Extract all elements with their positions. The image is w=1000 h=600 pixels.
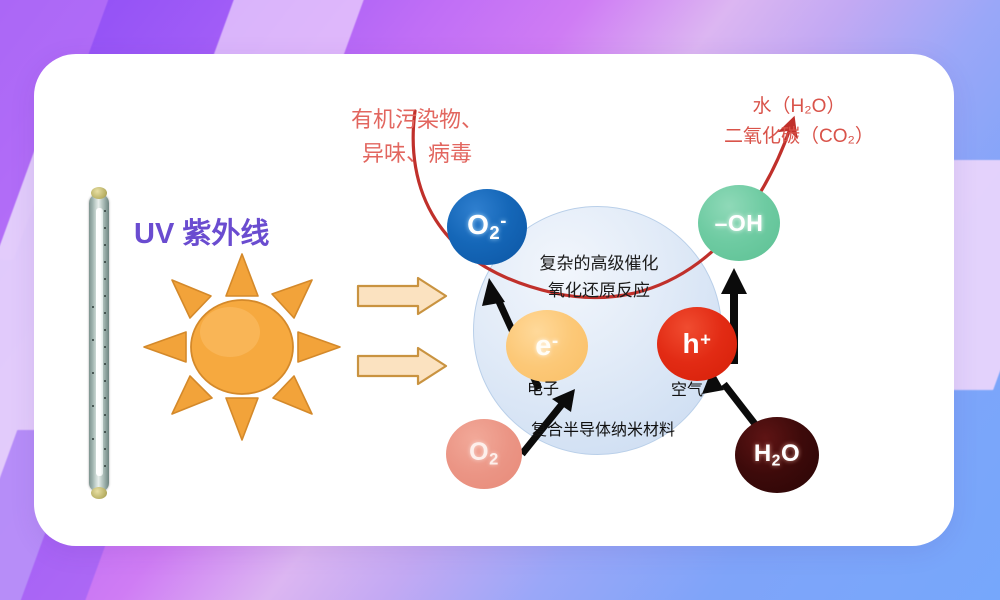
diagram-canvas: O2- –OH e- h+ O2 H2O 有机污染物、 异味、病毒 水（H₂O）… bbox=[0, 0, 1000, 600]
white-card-panel: O2- –OH e- h+ O2 H2O 有机污染物、 异味、病毒 水（H₂O）… bbox=[34, 54, 954, 546]
product-line-2: 二氧化碳（CO₂） bbox=[704, 122, 894, 152]
material-label: 复合半导体纳米材料 bbox=[531, 416, 675, 440]
bubble-hole-label: h+ bbox=[683, 328, 712, 360]
air-label: 空气 bbox=[671, 376, 703, 400]
sun-icon bbox=[142, 252, 342, 442]
pollutant-label: 有机污染物、 异味、病毒 bbox=[342, 103, 492, 171]
sun-svg bbox=[142, 252, 342, 442]
lamp-cap-top bbox=[91, 187, 107, 199]
bubble-superoxide-label: O2- bbox=[467, 209, 507, 244]
bubble-oxygen-label: O2 bbox=[469, 438, 499, 470]
reaction-line-1: 复杂的高级催化 bbox=[510, 250, 688, 277]
bubble-hole: h+ bbox=[657, 307, 737, 381]
bubble-hydroxyl-label: –OH bbox=[715, 210, 764, 237]
bubble-water: H2O bbox=[735, 417, 819, 493]
bubble-oxygen: O2 bbox=[446, 419, 522, 489]
sun-highlight bbox=[200, 307, 260, 357]
lamp-dot-column-secondary bbox=[92, 306, 95, 486]
electron-label: 电子 bbox=[527, 375, 559, 399]
bubble-hydroxyl: –OH bbox=[698, 185, 780, 261]
product-label: 水（H₂O） 二氧化碳（CO₂） bbox=[704, 92, 894, 153]
pollutant-line-2: 异味、病毒 bbox=[342, 137, 492, 171]
bubble-electron: e- bbox=[506, 310, 588, 382]
lamp-glass-strip bbox=[96, 208, 103, 476]
uv-label: UV 紫外线 bbox=[134, 210, 269, 252]
product-line-1: 水（H₂O） bbox=[704, 92, 894, 122]
light-arrow-upper bbox=[356, 276, 448, 316]
pollutant-line-1: 有机污染物、 bbox=[342, 103, 492, 137]
reaction-line-2: 氧化还原反应 bbox=[510, 277, 688, 304]
lamp-dot-column bbox=[104, 210, 107, 474]
lamp-cap-bottom bbox=[91, 487, 107, 499]
reaction-label: 复杂的高级催化 氧化还原反应 bbox=[510, 250, 688, 304]
light-arrow-lower bbox=[356, 346, 448, 386]
bubble-water-label: H2O bbox=[754, 440, 800, 470]
block-arrow-svg bbox=[356, 276, 448, 316]
uv-lamp-tube bbox=[86, 186, 112, 500]
block-arrow-svg bbox=[356, 346, 448, 386]
bubble-electron-label: e- bbox=[535, 330, 559, 363]
